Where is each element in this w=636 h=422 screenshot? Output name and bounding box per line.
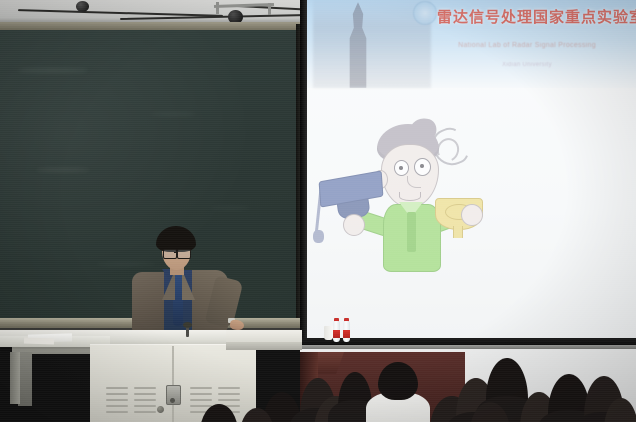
- eyeglasses-icon: [177, 249, 191, 259]
- desk-left-leg: [10, 352, 20, 404]
- eyeglasses-icon: [163, 249, 177, 259]
- cartoon-tie: [407, 212, 416, 252]
- papers-on-desk: [24, 337, 54, 344]
- water-bottle-label: [343, 330, 350, 338]
- desk-microphone-head: [183, 322, 192, 328]
- eyeglasses-bridge: [174, 252, 178, 253]
- water-bottle-label: [333, 330, 340, 338]
- ceiling-speaker-icon: [76, 1, 89, 12]
- cartoon-hand-right: [461, 204, 483, 226]
- slide-subtitle-primary: National Lab of Radar Signal Processing: [427, 42, 627, 49]
- podium-door-split: [172, 346, 174, 422]
- audience-member-head: [378, 362, 418, 400]
- university-emblem-icon: [413, 1, 437, 25]
- slide-subtitle-secondary: Xidian University: [427, 62, 627, 68]
- cartoon-student-illustration: [315, 118, 485, 286]
- graduation-cap-icon: [319, 170, 384, 207]
- podium-door-knob: [157, 406, 164, 413]
- cartoon-mouth: [399, 192, 421, 201]
- trophy-cup-stem: [453, 226, 463, 238]
- paper-cup: [324, 326, 333, 340]
- presenter-speaker: [118, 226, 238, 338]
- lecture-hall-photo: 雷达信号处理国家重点实验室 National Lab of Radar Sign…: [0, 0, 636, 422]
- cartoon-pupil-right: [420, 164, 424, 168]
- desk-left-support: [18, 352, 32, 406]
- projector-mount-bracket: [216, 2, 219, 14]
- graduation-cap-tassel-knot: [313, 230, 324, 243]
- slide-title: 雷达信号处理国家重点实验室: [437, 6, 633, 27]
- projection-screen: 雷达信号处理国家重点实验室 National Lab of Radar Sign…: [307, 0, 636, 344]
- lock-keyhole: [170, 398, 175, 403]
- projector-mount-bracket: [268, 3, 271, 15]
- cartoon-hand-left: [343, 214, 365, 236]
- cartoon-pupil-left: [399, 166, 403, 170]
- desk-right-front: [226, 342, 302, 350]
